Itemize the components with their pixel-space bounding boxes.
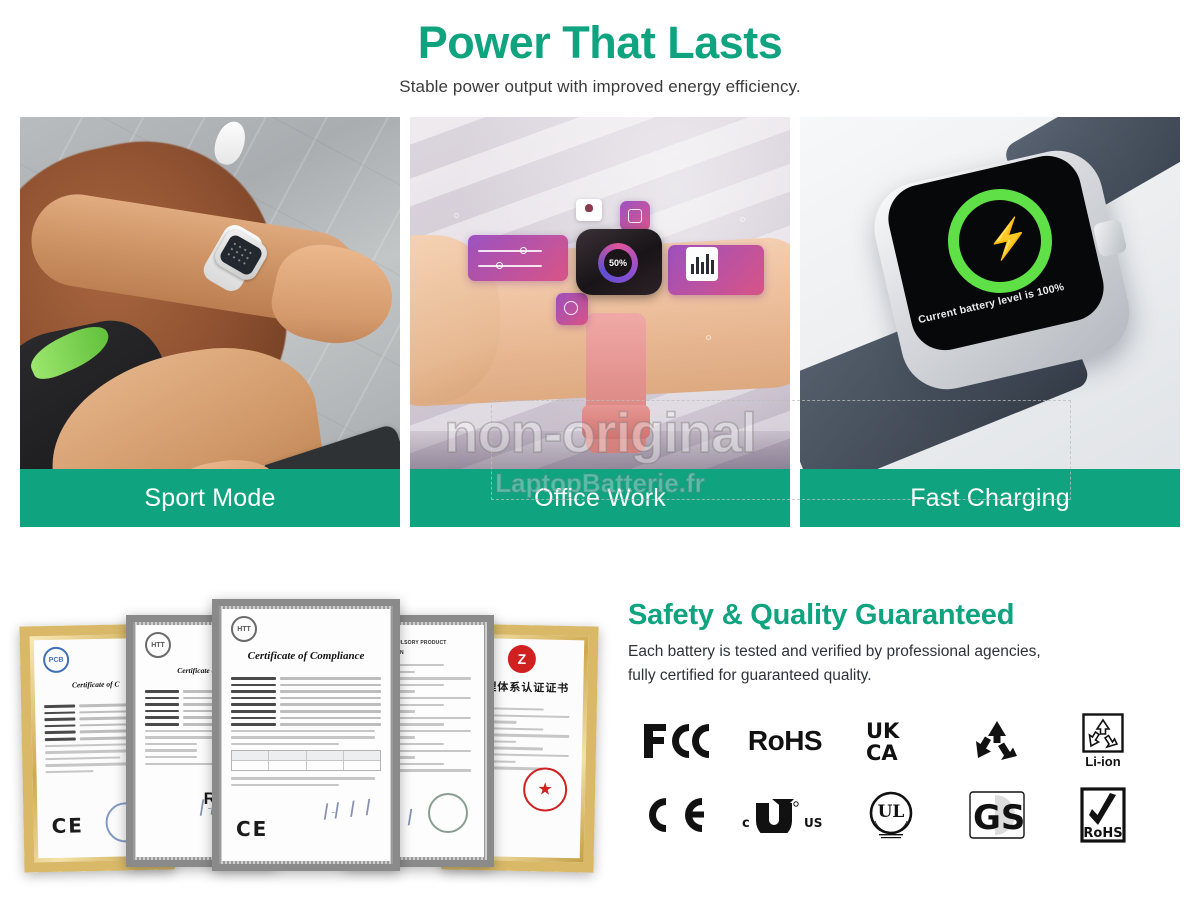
official-stamp <box>428 793 468 833</box>
page-subtitle: Stable power output with improved energy… <box>0 77 1200 97</box>
htt-logo: HTT <box>231 616 257 642</box>
svg-text:RoHS: RoHS <box>1083 826 1122 841</box>
safety-description-line-1: Each battery is tested and verified by p… <box>628 640 1186 664</box>
app-tile-sliders <box>468 235 568 281</box>
rohs-check-icon: RoHS <box>1052 780 1154 850</box>
ce-icon <box>628 780 730 850</box>
liion-recycle-icon: Li-ion <box>1052 706 1154 776</box>
recycle-icon <box>946 706 1048 776</box>
htt-logo: HTT <box>145 632 171 658</box>
red-star-stamp: ★ <box>523 767 568 812</box>
svg-text:CA: CA <box>866 741 898 764</box>
fcc-icon <box>628 706 730 776</box>
app-tile-settings <box>556 293 588 325</box>
feature-card-sport-mode[interactable]: Sport Mode <box>20 117 400 527</box>
certificate-title: Certificate of Compliance <box>222 650 390 662</box>
svg-text:UK: UK <box>866 719 900 743</box>
ce-mark: C E <box>51 813 82 838</box>
feature-card-label-fast-charging: Fast Charging <box>800 469 1180 527</box>
sport-photo <box>20 117 400 527</box>
ukca-icon: UK CA <box>840 706 942 776</box>
svg-text:US: US <box>804 816 822 830</box>
ul-icon: UL <box>840 780 942 850</box>
feature-card-list: Sport Mode <box>0 117 1200 527</box>
cruus-icon: c US <box>734 780 836 850</box>
ce-mark: C E <box>236 817 266 841</box>
safety-quality-panel: Safety & Quality Guaranteed Each battery… <box>614 585 1186 885</box>
certification-badge-grid: RoHS UK CA <box>628 706 1186 850</box>
feature-card-label-office-work: Office Work <box>410 469 790 527</box>
charging-photo: ⚡ Current battery level is 100% <box>800 117 1180 527</box>
watch-progress-ring: 50% <box>598 243 638 283</box>
app-tile-chart <box>686 247 718 281</box>
svg-text:GS: GS <box>973 798 1025 838</box>
svg-text:UL: UL <box>878 802 905 822</box>
safety-title: Safety & Quality Guaranteed <box>628 599 1186 632</box>
rohs-text-icon: RoHS <box>734 706 836 776</box>
gs-icon: GS <box>946 780 1048 850</box>
certificate-htt-compliance[interactable]: HTT Certificate of Compliance <box>212 599 400 871</box>
lightning-bolt-icon: ⚡ <box>983 217 1035 262</box>
office-photo: 50% <box>410 117 790 527</box>
safety-description-line-2: fully certified for guaranteed quality. <box>628 664 1186 688</box>
certificate-stack: PCB Certificate of C C E <box>14 597 614 877</box>
feature-card-office-work[interactable]: 50% Office Work <box>410 117 790 527</box>
feature-card-label-sport-mode: Sport Mode <box>20 469 400 527</box>
feature-card-fast-charging[interactable]: ⚡ Current battery level is 100% Fast Cha… <box>800 117 1180 527</box>
page-title: Power That Lasts <box>0 16 1200 69</box>
z-logo-icon: Z <box>508 645 537 674</box>
watch-battery-percent: 50% <box>609 258 627 268</box>
signature <box>321 798 378 820</box>
svg-text:c: c <box>742 816 750 831</box>
rohs-label: RoHS <box>748 725 822 757</box>
page-header: Power That Lasts Stable power output wit… <box>0 0 1200 97</box>
app-tile-checkbox <box>620 201 650 231</box>
app-tile-contact <box>576 199 602 221</box>
liion-label: Li-ion <box>1085 754 1120 769</box>
certification-section: PCB Certificate of C C E <box>0 585 1200 885</box>
